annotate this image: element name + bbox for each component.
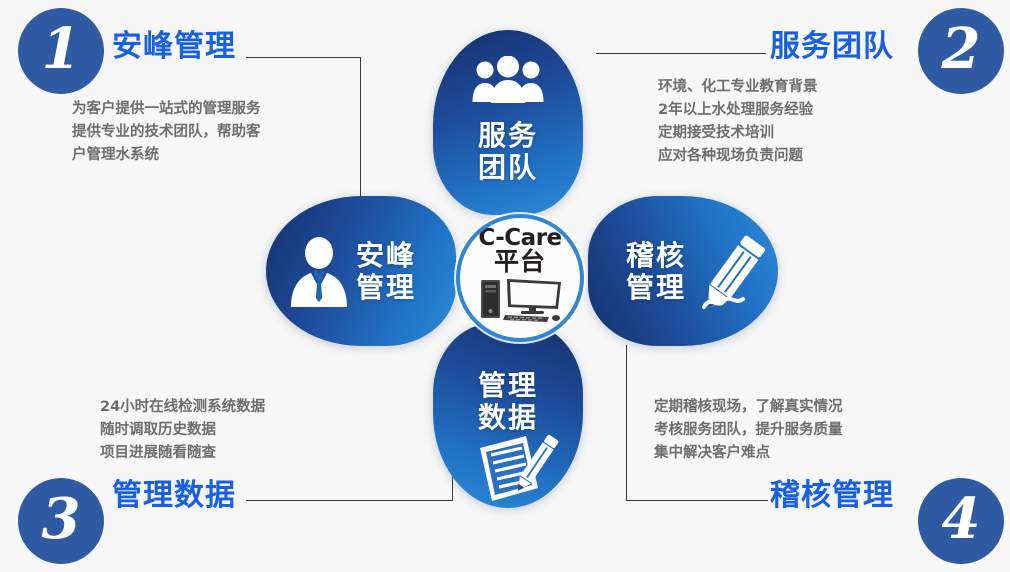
number-badge-3-label: 3 [42,491,81,547]
number-badge-2: 2 [918,8,1004,94]
section-heading-4: 稽核管理 [770,470,894,514]
section-body-1-line-2: 提供专业的技术团队，帮助客 [72,121,261,144]
section-body-3: 24小时在线检测系统数据 随时调取历史数据 项目进展随看随查 [100,396,265,465]
infographic-canvas: 1 2 3 4 安峰管理 服务团队 管理数据 稽核管理 为客户提供一站式的管理服… [0,0,1010,572]
number-badge-4: 4 [918,478,1004,564]
section-body-3-line-1: 24小时在线检测系统数据 [100,396,265,419]
number-badge-3: 3 [18,478,104,564]
section-body-3-line-2: 随时调取历史数据 [100,419,265,442]
number-badge-1-label: 1 [42,21,81,77]
section-body-1-line-1: 为客户提供一站式的管理服务 [72,98,261,121]
section-heading-2: 服务团队 [770,21,894,65]
section-body-1: 为客户提供一站式的管理服务 提供专业的技术团队，帮助客 户管理水系统 [72,98,261,167]
desktop-computer-icon [477,276,563,322]
clipboard-pencil-icon [476,432,566,504]
three-people-group-icon [471,56,545,104]
petal-label-management-data: 管理 数据 [433,370,583,434]
petal-label-anfeng-management: 安峰 管理 [336,240,436,304]
petal-label-audit-management-line-2: 管理 [606,272,706,304]
center-hub[interactable]: C-Care 平台 [456,214,584,342]
petal-label-management-data-line-1: 管理 [433,370,583,402]
petal-label-service-team: 服务 团队 [433,120,583,184]
number-badge-4-label: 4 [942,491,981,547]
number-badge-1: 1 [18,8,104,94]
petal-label-service-team-line-2: 团队 [433,152,583,184]
petal-label-management-data-line-2: 数据 [433,402,583,434]
section-body-1-line-3: 户管理水系统 [72,144,261,167]
petal-label-anfeng-management-line-2: 管理 [336,272,436,304]
section-body-3-line-3: 项目进展随看随查 [100,442,265,465]
petal-label-anfeng-management-line-1: 安峰 [336,240,436,272]
petal-label-service-team-line-1: 服务 [433,120,583,152]
section-heading-3: 管理数据 [112,470,236,514]
flower-diagram: 服务 团队 安峰 管理 稽核 管理 管理 数据 C-Care 平台 [258,18,783,518]
section-heading-1: 安峰管理 [112,21,236,65]
number-badge-2-label: 2 [942,21,981,77]
pencil-signature-icon [698,233,770,321]
petal-label-audit-management: 稽核 管理 [606,240,706,304]
petal-label-audit-management-line-1: 稽核 [606,240,706,272]
hub-title-chinese: 平台 [494,249,546,275]
